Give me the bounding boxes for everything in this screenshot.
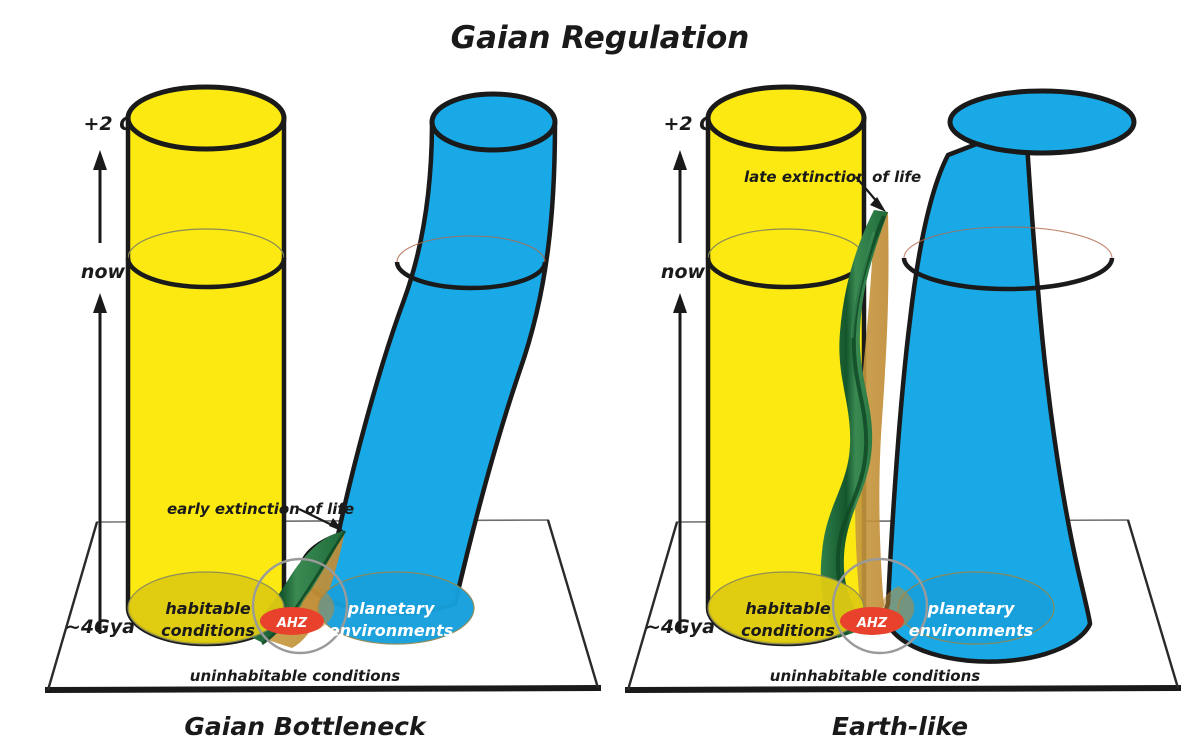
planetary-label-line1: planetary: [347, 599, 435, 618]
ahz-label: AHZ: [276, 616, 308, 631]
habitable-label-line1: habitable: [165, 599, 251, 618]
panel-caption-left: Gaian Bottleneck: [184, 712, 427, 741]
axis-label-mid-right: now: [661, 261, 706, 283]
annotation-label: early extinction of life: [167, 500, 354, 518]
figure-canvas: Gaian Regulation +2 Gyr now ~4Gya: [0, 0, 1200, 755]
habitable-conditions-volume: [128, 87, 284, 644]
planetary-label-line1-right: planetary: [927, 599, 1015, 618]
arrow-up-icon-upper: [93, 150, 107, 243]
planetary-label-line2: environments: [329, 621, 454, 640]
gaian-regulation-diagram: Gaian Regulation +2 Gyr now ~4Gya: [0, 0, 1200, 755]
axis-label-bottom-right: ~4Gya: [645, 616, 715, 638]
panel-gaian-bottleneck: +2 Gyr now ~4Gya: [48, 87, 598, 741]
habitable-label-line1-right: habitable: [745, 599, 831, 618]
page-title: Gaian Regulation: [451, 20, 750, 56]
uninhabitable-conditions-label-right: uninhabitable conditions: [770, 667, 980, 685]
planetary-label-line2-right: environments: [909, 621, 1034, 640]
panel-earth-like: +2 Gyr now ~4Gya: [628, 87, 1178, 741]
ahz-label-right: AHZ: [856, 616, 888, 631]
axis-label-mid: now: [81, 261, 126, 283]
habitable-label-line2-right: conditions: [741, 621, 835, 640]
arrow-up-icon-upper-right: [673, 150, 687, 243]
uninhabitable-conditions-label: uninhabitable conditions: [190, 667, 400, 685]
panel-caption-right: Earth-like: [832, 712, 968, 741]
annotation-label-right: late extinction of life: [744, 168, 921, 186]
habitable-label-line2: conditions: [161, 621, 255, 640]
axis-label-bottom: ~4Gya: [65, 616, 135, 638]
